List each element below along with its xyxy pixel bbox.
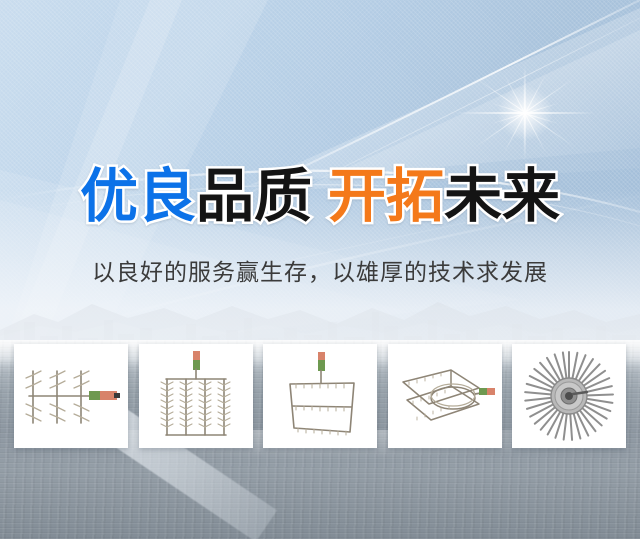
- headline-segment-orange: 开拓: [328, 164, 444, 229]
- product-card[interactable]: [263, 344, 377, 448]
- subtitle: 以良好的服务赢生存，以雄厚的技术求发展: [0, 259, 640, 287]
- page-title: 优良品质开拓未来: [0, 168, 640, 226]
- product-card[interactable]: [512, 344, 626, 448]
- rebar-ring-frame-product-icon: [395, 360, 495, 432]
- rebar-frame-panel-product-icon: [276, 350, 364, 442]
- rebar-comb-anchor-product-icon: [19, 353, 123, 439]
- headline-segment-dark-2: 未来: [444, 164, 560, 229]
- promo-banner: 优良品质开拓未来 以良好的服务赢生存，以雄厚的技术求发展: [0, 0, 640, 539]
- radial-spike-wheel-product-icon: [521, 348, 617, 444]
- headline-segment-blue: 优良: [80, 164, 196, 229]
- product-card-row: [14, 344, 626, 448]
- headline-segment-dark-1: 品质: [196, 164, 312, 229]
- rebar-ladder-mesh-product-icon: [150, 349, 242, 443]
- product-card[interactable]: [388, 344, 502, 448]
- product-card[interactable]: [14, 344, 128, 448]
- product-card[interactable]: [139, 344, 253, 448]
